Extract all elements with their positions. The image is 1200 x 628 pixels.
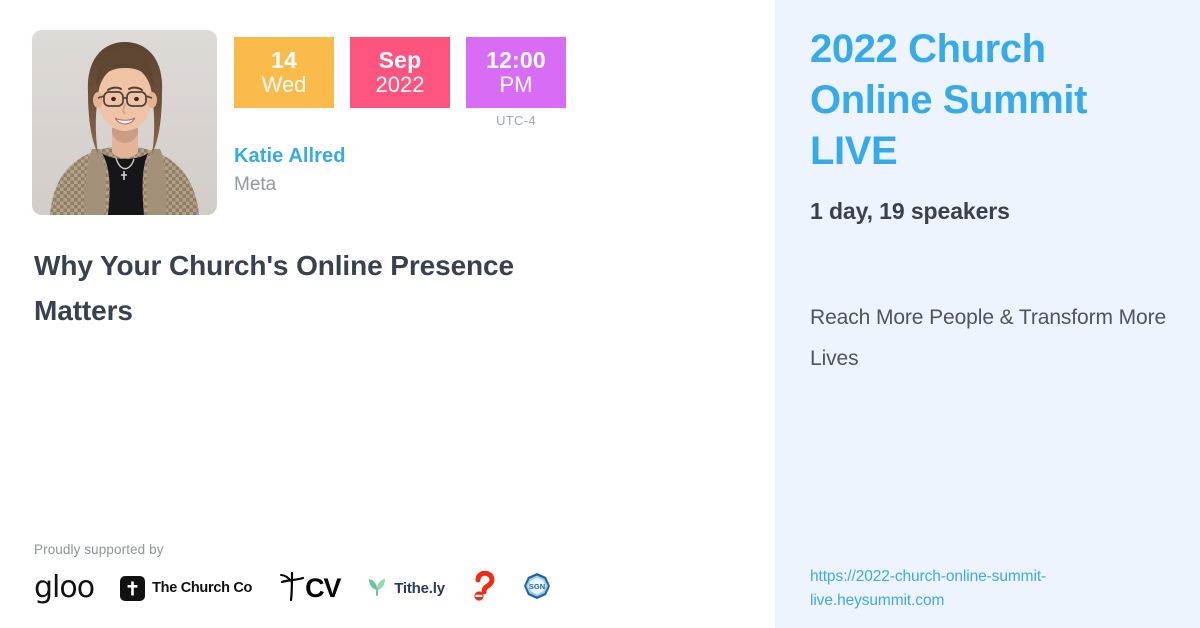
gloo-logo: gloo (34, 573, 94, 603)
date-badges: 14 Wed Sep 2022 12:00 PM UTC-4 (234, 37, 566, 128)
session-header: 14 Wed Sep 2022 12:00 PM UTC-4 (32, 30, 566, 215)
badge-year: 2022 (376, 73, 425, 97)
summit-url[interactable]: https://2022-church-online-summit-live.h… (810, 565, 1140, 613)
session-meta: 14 Wed Sep 2022 12:00 PM UTC-4 (234, 30, 566, 196)
sponsor-logo-row: gloo The Church Co (34, 570, 734, 606)
cross-icon (120, 576, 145, 601)
speaker-organization: Meta (234, 174, 566, 196)
badge-day: 14 Wed (234, 37, 334, 108)
badge-time: 12:00 PM (466, 37, 566, 108)
question-mark-icon (471, 571, 497, 606)
badge-month-name: Sep (379, 48, 422, 73)
sponsor-tithely[interactable]: Tithe.ly (366, 570, 445, 606)
tithely-logo: Tithe.ly (394, 580, 445, 597)
event-promo-card: 14 Wed Sep 2022 12:00 PM UTC-4 (0, 0, 1200, 628)
speaker-name[interactable]: Katie Allred (234, 145, 566, 168)
session-title: Why Your Church's Online Presence Matter… (34, 243, 604, 334)
sponsor-cv[interactable]: CV (278, 570, 340, 606)
badge-time-value: 12:00 (486, 48, 546, 73)
summit-panel: 2022 Church Online Summit LIVE 1 day, 19… (775, 0, 1200, 628)
sponsor-the-church-co[interactable]: The Church Co (120, 570, 252, 606)
summit-tagline: Reach More People & Transform More Lives (810, 298, 1170, 380)
svg-text:SGN: SGN (529, 582, 545, 591)
badge-day-name: Wed (262, 73, 307, 97)
sponsor-sgn[interactable]: SGN (523, 570, 551, 606)
sgn-icon: SGN (523, 572, 551, 605)
sprout-leaf-icon (366, 575, 388, 602)
badge-month: Sep 2022 (350, 37, 450, 108)
speaker-photo (32, 30, 217, 215)
timezone-label: UTC-4 (496, 113, 536, 128)
sponsor-question-mark[interactable] (471, 570, 497, 606)
badge-day-number: 14 (271, 48, 297, 73)
the-church-co-logo: The Church Co (152, 580, 252, 596)
session-panel: 14 Wed Sep 2022 12:00 PM UTC-4 (0, 0, 775, 628)
summit-title: 2022 Church Online Summit LIVE (810, 24, 1170, 178)
sponsors-section: Proudly supported by gloo The Church Co (34, 542, 734, 606)
badge-time-meridiem: PM (500, 73, 533, 97)
sponsor-gloo[interactable]: gloo (34, 570, 94, 606)
sponsors-label: Proudly supported by (34, 542, 734, 557)
badge-time-wrap: 12:00 PM UTC-4 (466, 37, 566, 128)
cv-cross-icon (278, 570, 308, 607)
cv-logo: CV (305, 575, 340, 602)
summit-subtitle: 1 day, 19 speakers (810, 198, 1170, 225)
